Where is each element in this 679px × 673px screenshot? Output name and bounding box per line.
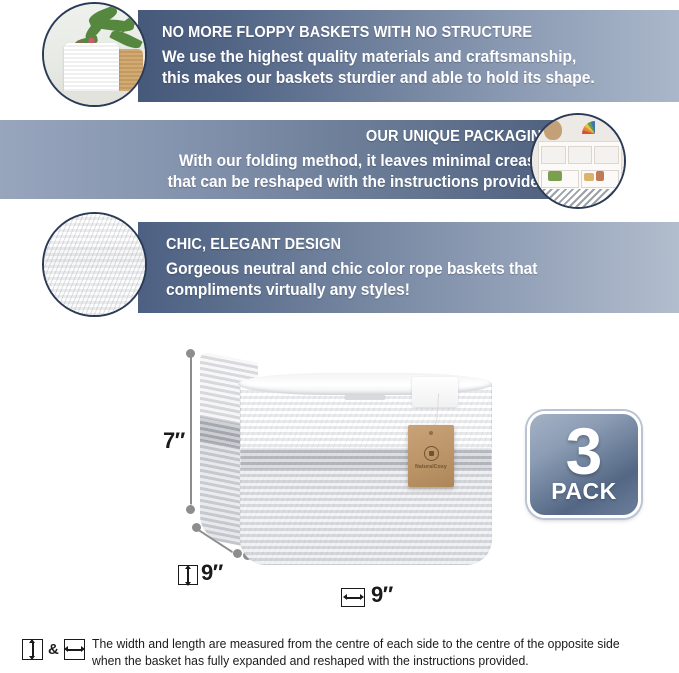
dimension-label-width: 9″: [371, 582, 393, 608]
banner-body-line-2: that can be reshaped with the instructio…: [168, 172, 553, 193]
measurement-note-line-2: when the basket has fully expanded and r…: [92, 653, 620, 670]
rope-texture-closeup-photo: [42, 212, 147, 317]
feature-banner-packaging: OUR UNIQUE PACKAGING With our folding me…: [0, 120, 593, 199]
arrow-horizontal-icon: [68, 649, 81, 651]
pack-count-badge: 3 PACK: [527, 411, 641, 518]
rainbow-toy-icon: [582, 121, 608, 134]
width-arrow-chip: [341, 588, 365, 607]
width-arrow-chip-footer: [64, 639, 85, 660]
basket-with-plants-photo: [42, 2, 147, 107]
banner-title: NO MORE FLOPPY BASKETS WITH NO STRUCTURE: [162, 23, 532, 42]
banner-body-line-1: With our folding method, it leaves minim…: [179, 151, 553, 172]
measurement-note: & The width and length are measured from…: [22, 636, 662, 670]
banner-title: OUR UNIQUE PACKAGING: [366, 127, 553, 146]
rope-storage-basket: NaturalCosy: [200, 355, 492, 565]
shelf-unit: [538, 141, 622, 191]
dimension-label-height: 7″: [163, 428, 185, 454]
storage-bin: [568, 146, 593, 164]
shelf-row-top: [539, 144, 621, 166]
arrow-vertical-icon: [32, 643, 34, 656]
toy-block-icon: [584, 173, 594, 181]
banner-body-line-1: We use the highest quality materials and…: [162, 47, 576, 68]
feature-banner-design: CHIC, ELEGANT DESIGN Gorgeous neutral an…: [138, 222, 679, 313]
measurement-note-text: The width and length are measured from t…: [92, 636, 636, 670]
toy-block-icon: [548, 171, 562, 181]
ampersand: &: [48, 641, 59, 658]
basket-handle-slot: [344, 395, 386, 400]
toy-block-icon: [596, 171, 604, 181]
banner-body-line-2: this makes our baskets sturdier and able…: [162, 68, 595, 89]
basket-front-face: [240, 381, 492, 565]
table-surface: [44, 91, 145, 105]
teddy-bear-icon: [544, 120, 562, 140]
pack-count-word: PACK: [551, 480, 616, 503]
rope-texture: [44, 214, 145, 315]
banner-title: CHIC, ELEGANT DESIGN: [166, 235, 341, 254]
brand-hang-tag: NaturalCosy: [408, 425, 454, 487]
measurement-icons: &: [22, 636, 85, 660]
small-rope-basket: [64, 43, 119, 95]
plants-scene: [44, 4, 145, 105]
pack-count-number: 3: [566, 424, 603, 478]
dimension-dot-height-bottom: [186, 505, 195, 514]
measurement-note-line-1: The width and length are measured from t…: [92, 636, 620, 653]
storage-bin: [541, 146, 566, 164]
shelf-scene: [532, 115, 624, 207]
feature-banner-structure: NO MORE FLOPPY BASKETS WITH NO STRUCTURE…: [138, 10, 679, 102]
banner-body-line-1: Gorgeous neutral and chic color rope bas…: [166, 259, 537, 280]
shelf-with-baskets-photo: [530, 113, 626, 209]
brand-name: NaturalCosy: [415, 464, 447, 470]
arrow-vertical-icon: [187, 569, 189, 582]
storage-bin: [594, 146, 619, 164]
floor-rug: [532, 189, 624, 207]
brand-logo-icon: [424, 446, 439, 461]
dimension-line-height: [190, 354, 192, 506]
banner-body-line-2: compliments virtually any styles!: [166, 280, 410, 301]
height-arrow-chip-footer: [22, 639, 43, 660]
arrow-horizontal-icon: [347, 597, 360, 599]
height-arrow-chip: [178, 565, 198, 585]
